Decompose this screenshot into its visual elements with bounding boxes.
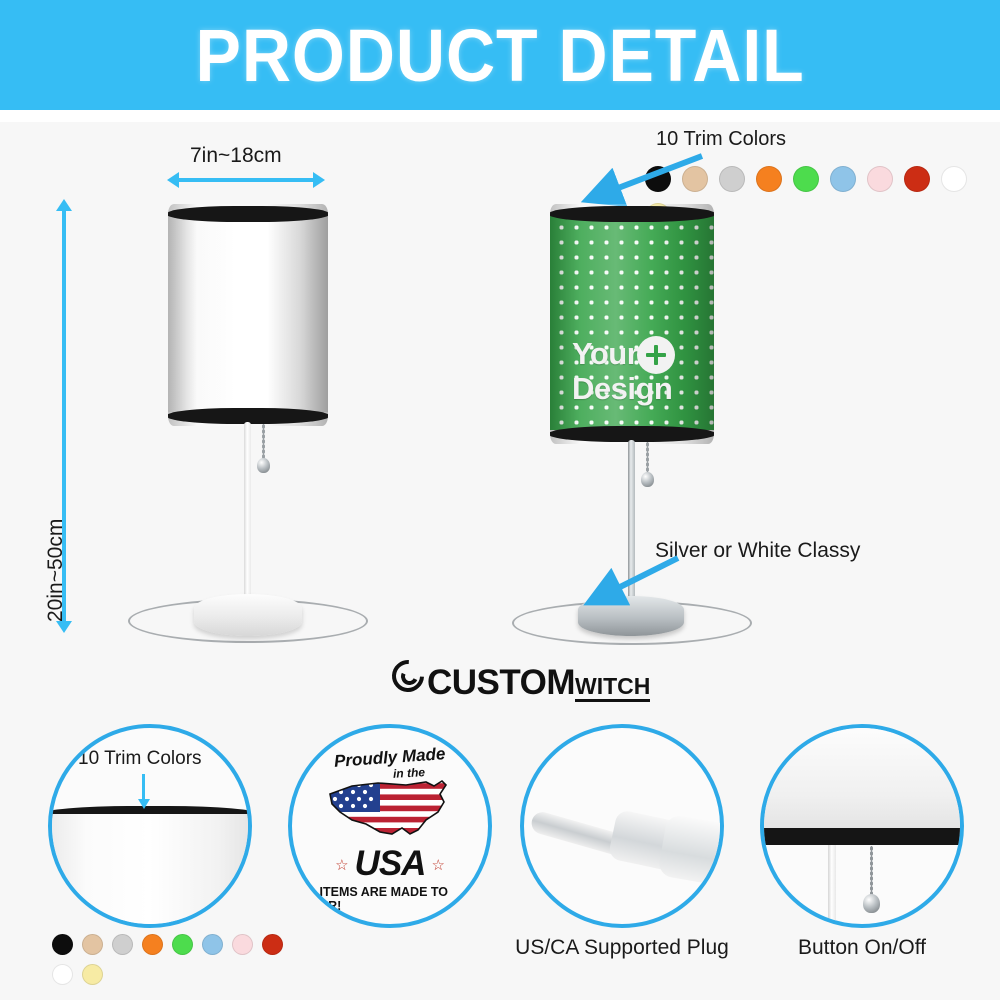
lampshade-green: [550, 204, 714, 444]
pull-chain[interactable]: [646, 442, 649, 476]
trim-swatch-orange[interactable]: [756, 166, 782, 192]
usa-badge-subtitle: ALL ITEMS ARE MADE TO ORDER!: [292, 885, 488, 913]
trim-swatch-pink[interactable]: [867, 166, 893, 192]
shade-trim-closeup: [760, 828, 964, 845]
lamp-pole-white: [244, 422, 251, 618]
feature-button-caption: Button On/Off: [742, 936, 982, 960]
pull-chain-ball[interactable]: [257, 458, 270, 473]
width-dimension-arrow: [178, 178, 314, 182]
plug-blade-top: [723, 819, 724, 845]
c-circle-icon: [392, 660, 426, 694]
pull-chain-ball[interactable]: [641, 472, 654, 487]
banner-divider: [0, 110, 1000, 122]
page-title: PRODUCT DETAIL: [195, 13, 804, 98]
feature-highlights: 10 Trim Colors Proudly Made in the: [0, 712, 1000, 1000]
trim-swatch-pink[interactable]: [232, 934, 253, 955]
trim-colors-swatches-bottom[interactable]: [52, 934, 302, 985]
star-left-icon: ☆: [335, 856, 348, 874]
trim-swatch-red[interactable]: [262, 934, 283, 955]
trim-pointer-arrow: [574, 150, 714, 210]
usa-map-icon: [322, 772, 458, 846]
product-detail-page: PRODUCT DETAIL 10 Trim Colors 7in~18cm 2…: [0, 0, 1000, 1000]
trim-swatch-gray[interactable]: [112, 934, 133, 955]
trim-swatch-white[interactable]: [52, 964, 73, 985]
lampshade-surface: [168, 216, 328, 412]
lampshade-top-trim: [550, 206, 714, 222]
base-finish-pointer-arrow: [578, 550, 688, 612]
plus-icon: [637, 336, 675, 374]
brand-name-secondary: WITCH: [575, 674, 650, 702]
usa-badge-line1: Proudly Made: [334, 744, 447, 772]
lamp-pole-closeup: [828, 845, 836, 924]
header-banner: PRODUCT DETAIL: [0, 0, 1000, 110]
usa-badge-title: USA: [355, 844, 426, 884]
trim-swatch-yellow[interactable]: [82, 964, 103, 985]
star-right-icon: ☆: [431, 856, 444, 874]
pull-chain[interactable]: [262, 424, 265, 462]
trim-colors-label-top: 10 Trim Colors: [656, 128, 786, 151]
width-dimension-label: 7in~18cm: [190, 144, 282, 168]
trim-swatch-tan[interactable]: [82, 934, 103, 955]
brand-logo: CUSTOM WITCH: [392, 660, 650, 703]
product-showcase: 10 Trim Colors 7in~18cm 20in~50cm: [0, 122, 1000, 712]
trim-swatch-white[interactable]: [941, 166, 967, 192]
usa-badge: Proudly Made in the: [292, 728, 488, 924]
feature-plug: [520, 724, 724, 928]
trim-swatch-black[interactable]: [52, 934, 73, 955]
trim-swatch-red[interactable]: [904, 166, 930, 192]
usa-title-row: ☆ USA ☆: [335, 846, 445, 884]
shade-surface-closeup: [48, 814, 252, 928]
pull-chain-closeup[interactable]: [870, 846, 873, 898]
lampshade-top-trim: [168, 206, 328, 222]
lampshade-white: [168, 204, 328, 426]
trim-swatch-light-blue[interactable]: [830, 166, 856, 192]
pull-chain-ball-closeup[interactable]: [863, 894, 880, 913]
plug-body: [657, 814, 724, 889]
trim-swatch-orange[interactable]: [142, 934, 163, 955]
feature-button: [760, 724, 964, 928]
height-dimension-arrow: [62, 210, 66, 622]
lamp-base-white: [194, 594, 302, 636]
trim-swatch-green[interactable]: [172, 934, 193, 955]
brand-name-primary: CUSTOM: [427, 663, 575, 703]
shade-closeup: [760, 724, 964, 830]
feature-plug-caption: US/CA Supported Plug: [498, 936, 746, 960]
trim-swatch-light-blue[interactable]: [202, 934, 223, 955]
feature-made-in-usa: Proudly Made in the: [288, 724, 492, 928]
trim-swatch-green[interactable]: [793, 166, 819, 192]
trim-closeup-arrow: [142, 774, 145, 800]
feature-trim-colors: 10 Trim Colors: [48, 724, 252, 928]
trim-swatch-gray[interactable]: [719, 166, 745, 192]
feature-trim-colors-inner-label: 10 Trim Colors: [78, 748, 202, 770]
design-line-2: Design: [572, 373, 672, 404]
